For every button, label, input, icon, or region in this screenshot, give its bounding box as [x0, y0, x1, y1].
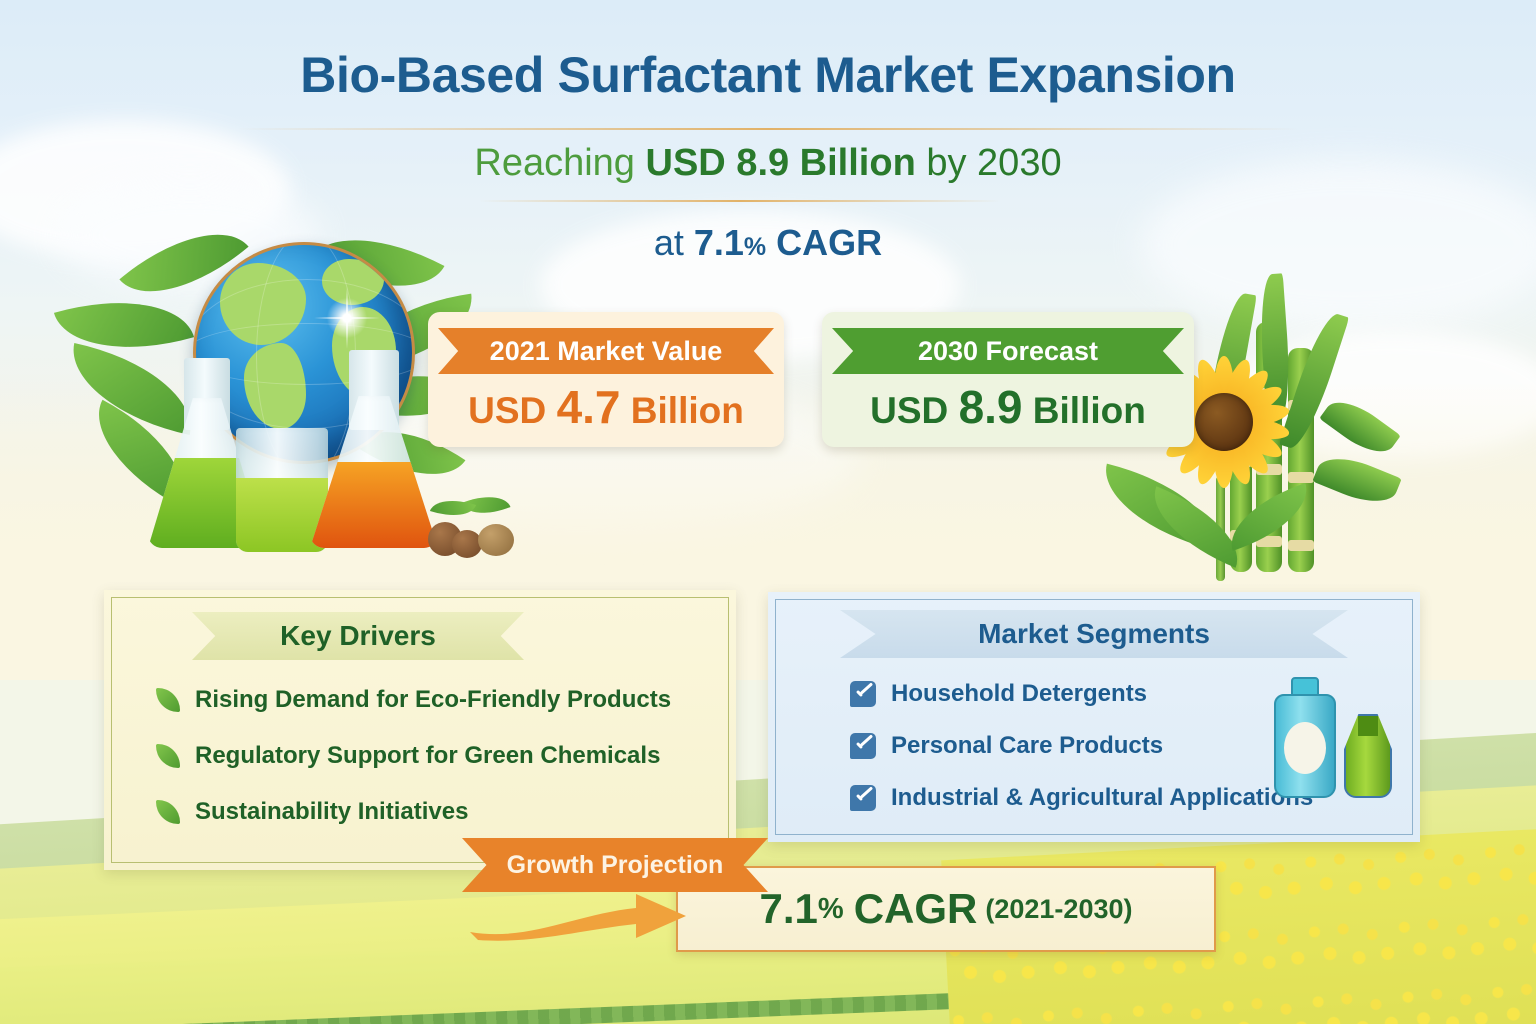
subtitle: Reaching USD 8.9 Billion by 2030: [0, 142, 1536, 185]
cagr-metric: CAGR: [854, 885, 978, 933]
page-title: Bio-Based Surfactant Market Expansion: [0, 46, 1536, 104]
market-value-card-2021: 2021 Market Value USD 4.7 Billion: [428, 312, 784, 447]
market-segments-heading: Market Segments: [840, 610, 1348, 658]
subtitle-value: USD 8.9 Billion: [646, 142, 916, 184]
cane-leaf-icon: [1319, 391, 1400, 463]
infographic-canvas: Bio-Based Surfactant Market Expansion Re…: [0, 0, 1536, 1024]
seed-cluster-icon: [426, 500, 522, 562]
list-item: Regulatory Support for Green Chemicals: [156, 742, 660, 770]
cagr-rate: 7.1: [760, 885, 818, 933]
key-drivers-heading: Key Drivers: [192, 612, 524, 660]
check-bullet-icon: [850, 785, 876, 811]
list-item-label: Regulatory Support for Green Chemicals: [195, 742, 660, 770]
card-ribbon-label: 2030 Forecast: [832, 328, 1184, 374]
list-item: Personal Care Products: [850, 732, 1163, 760]
list-item-label: Industrial & Agricultural Applications: [891, 784, 1313, 812]
list-item: Household Detergents: [850, 680, 1147, 708]
check-bullet-icon: [850, 681, 876, 707]
leaf-bullet-icon: [156, 744, 180, 768]
list-item-label: Personal Care Products: [891, 732, 1163, 760]
card-value: USD 4.7 Billion: [428, 380, 784, 434]
list-item-label: Household Detergents: [891, 680, 1147, 708]
sparkle-icon: [324, 295, 370, 341]
list-item-label: Sustainability Initiatives: [195, 798, 468, 826]
divider-rule: [480, 200, 1000, 202]
cane-leaf-icon: [1312, 448, 1402, 512]
card-amount: 8.9: [959, 381, 1023, 433]
tagline-cagr: CAGR: [776, 222, 882, 263]
growth-projection-ribbon: Growth Projection: [462, 838, 768, 892]
key-drivers-panel: Key Drivers Rising Demand for Eco-Friend…: [104, 590, 736, 870]
divider-rule: [238, 128, 1298, 130]
cagr-text: 7.1% CAGR (2021-2030): [678, 868, 1214, 950]
card-ribbon-label: 2021 Market Value: [438, 328, 774, 374]
flask-orange: [310, 350, 438, 548]
list-item-label: Rising Demand for Eco-Friendly Products: [195, 686, 671, 714]
list-item: Sustainability Initiatives: [156, 798, 468, 826]
cagr-summary-panel: 7.1% CAGR (2021-2030): [676, 866, 1216, 952]
card-amount: 4.7: [557, 381, 621, 433]
card-unit: Billion: [1033, 390, 1146, 431]
check-bullet-icon: [850, 733, 876, 759]
detergent-bottles-icon: [1274, 670, 1392, 798]
card-currency: USD: [468, 390, 546, 431]
market-value-card-2030: 2030 Forecast USD 8.9 Billion: [822, 312, 1194, 447]
leaf-bullet-icon: [156, 800, 180, 824]
cagr-percent: %: [818, 893, 844, 926]
leaf-bullet-icon: [156, 688, 180, 712]
card-value: USD 8.9 Billion: [822, 380, 1194, 434]
tagline-percent: %: [744, 233, 766, 261]
tagline-at: at: [654, 222, 684, 263]
card-currency: USD: [870, 390, 948, 431]
growth-arrow-icon: [468, 886, 748, 942]
market-segments-panel: Market Segments Household Detergents Per…: [768, 592, 1420, 842]
subtitle-reaching: Reaching: [474, 142, 635, 184]
tagline-rate: 7.1: [694, 222, 744, 263]
list-item: Rising Demand for Eco-Friendly Products: [156, 686, 671, 714]
subtitle-by-year: by 2030: [926, 142, 1061, 184]
cagr-period: (2021-2030): [985, 894, 1132, 925]
card-unit: Billion: [631, 390, 744, 431]
list-item: Industrial & Agricultural Applications: [850, 784, 1313, 812]
